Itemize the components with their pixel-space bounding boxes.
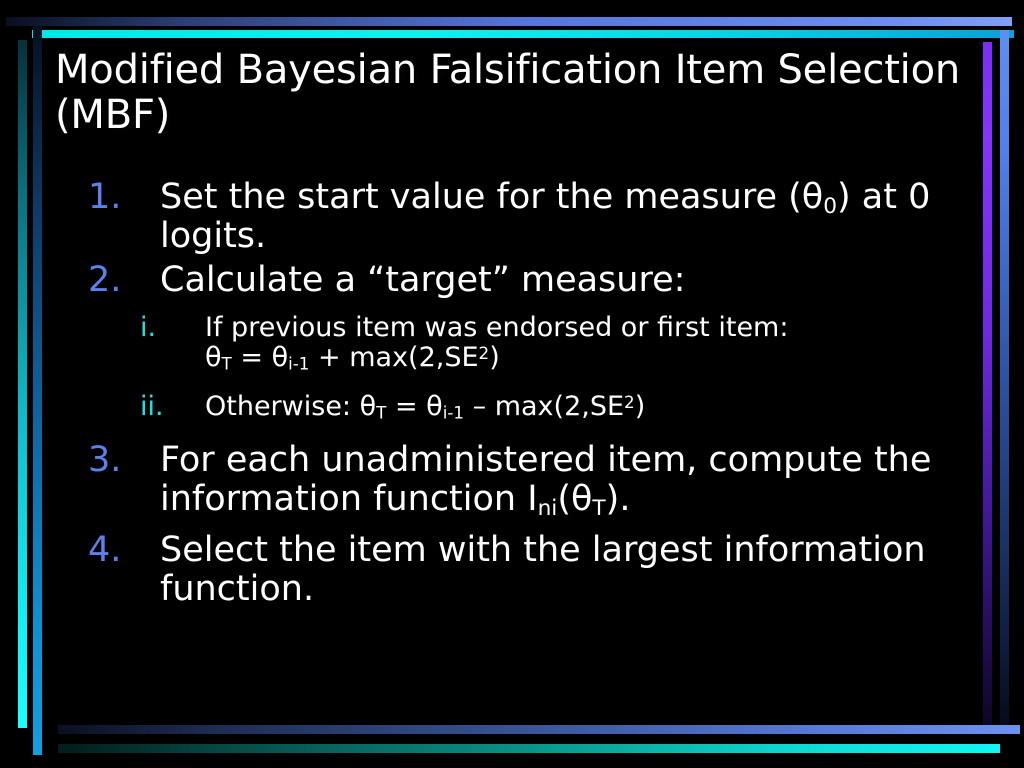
top-cyan-accent-bar xyxy=(32,30,1014,38)
formula-subscript-i-minus-1: i-1 xyxy=(443,403,464,423)
bottom-blue-accent-bar xyxy=(58,725,1020,734)
slide-title: Modified Bayesian Falsification Item Sel… xyxy=(55,48,985,138)
item1-subscript-zero: 0 xyxy=(823,194,837,219)
sub-i-formula: θT = θi-1 + max(2,SE2) xyxy=(205,342,500,373)
list-item-4: 4. Select the item with the largest info… xyxy=(0,531,1024,609)
formula-theta: θ xyxy=(205,342,222,373)
sub-list-marker-i: i. xyxy=(140,313,205,344)
formula-operator-max: + max(2,SE xyxy=(309,342,478,373)
presentation-slide: Modified Bayesian Falsification Item Sel… xyxy=(0,0,1024,768)
item3-subscript-ni: ni xyxy=(538,496,558,521)
sub-ii-formula: θT = θi-1 – max(2,SE2) xyxy=(360,391,646,422)
formula-equals: = xyxy=(386,391,426,422)
item3-text-b: (θ xyxy=(557,479,592,519)
slide-body: 1. Set the start value for the measure (… xyxy=(0,178,1024,615)
list-item-2: 2. Calculate a “target” measure: xyxy=(0,261,1024,300)
bottom-cyan-accent-bar xyxy=(58,744,1000,753)
sub-list-item-ii-text: Otherwise: θT = θi-1 – max(2,SE2) xyxy=(205,392,995,423)
formula-superscript-2: 2 xyxy=(479,343,490,363)
sub-list-item-i: i. If previous item was endorsed or firs… xyxy=(0,313,1024,375)
formula-operator-minus-max: – max(2,SE xyxy=(464,391,624,422)
formula-superscript-2: 2 xyxy=(624,392,635,412)
list-marker-3: 3. xyxy=(88,441,160,480)
list-item-1-text: Set the start value for the measure (θ0)… xyxy=(160,178,960,256)
formula-equals: = xyxy=(232,342,272,373)
list-item-3-text: For each unadministered item, compute th… xyxy=(160,441,960,519)
list-item-1: 1. Set the start value for the measure (… xyxy=(0,178,1024,256)
item3-text-c: ). xyxy=(606,479,631,519)
item3-subscript-T: T xyxy=(592,496,605,521)
sub-i-line1: If previous item was endorsed or first i… xyxy=(205,312,788,343)
formula-subscript-i-minus-1: i-1 xyxy=(288,354,309,374)
sub-ii-lead: Otherwise: xyxy=(205,391,360,422)
formula-theta-2: θ xyxy=(426,391,443,422)
list-item-3: 3. For each unadministered item, compute… xyxy=(0,441,1024,519)
formula-close-paren: ) xyxy=(635,391,646,422)
item1-text-a: Set the start value for the measure (θ xyxy=(160,177,823,217)
list-marker-1: 1. xyxy=(88,178,160,217)
list-item-4-text: Select the item with the largest informa… xyxy=(160,531,960,609)
sub-list-item-i-text: If previous item was endorsed or first i… xyxy=(205,313,995,375)
sub-list-marker-ii: ii. xyxy=(140,392,205,423)
formula-close-paren: ) xyxy=(489,342,500,373)
list-item-2-text: Calculate a “target” measure: xyxy=(160,261,960,300)
formula-subscript-T: T xyxy=(222,354,232,374)
formula-theta: θ xyxy=(360,391,377,422)
list-marker-4: 4. xyxy=(88,531,160,570)
formula-theta-2: θ xyxy=(272,342,289,373)
sub-list-item-ii: ii. Otherwise: θT = θi-1 – max(2,SE2) xyxy=(0,392,1024,423)
list-marker-2: 2. xyxy=(88,261,160,300)
top-blue-accent-bar xyxy=(6,17,1012,26)
formula-subscript-T: T xyxy=(376,403,386,423)
